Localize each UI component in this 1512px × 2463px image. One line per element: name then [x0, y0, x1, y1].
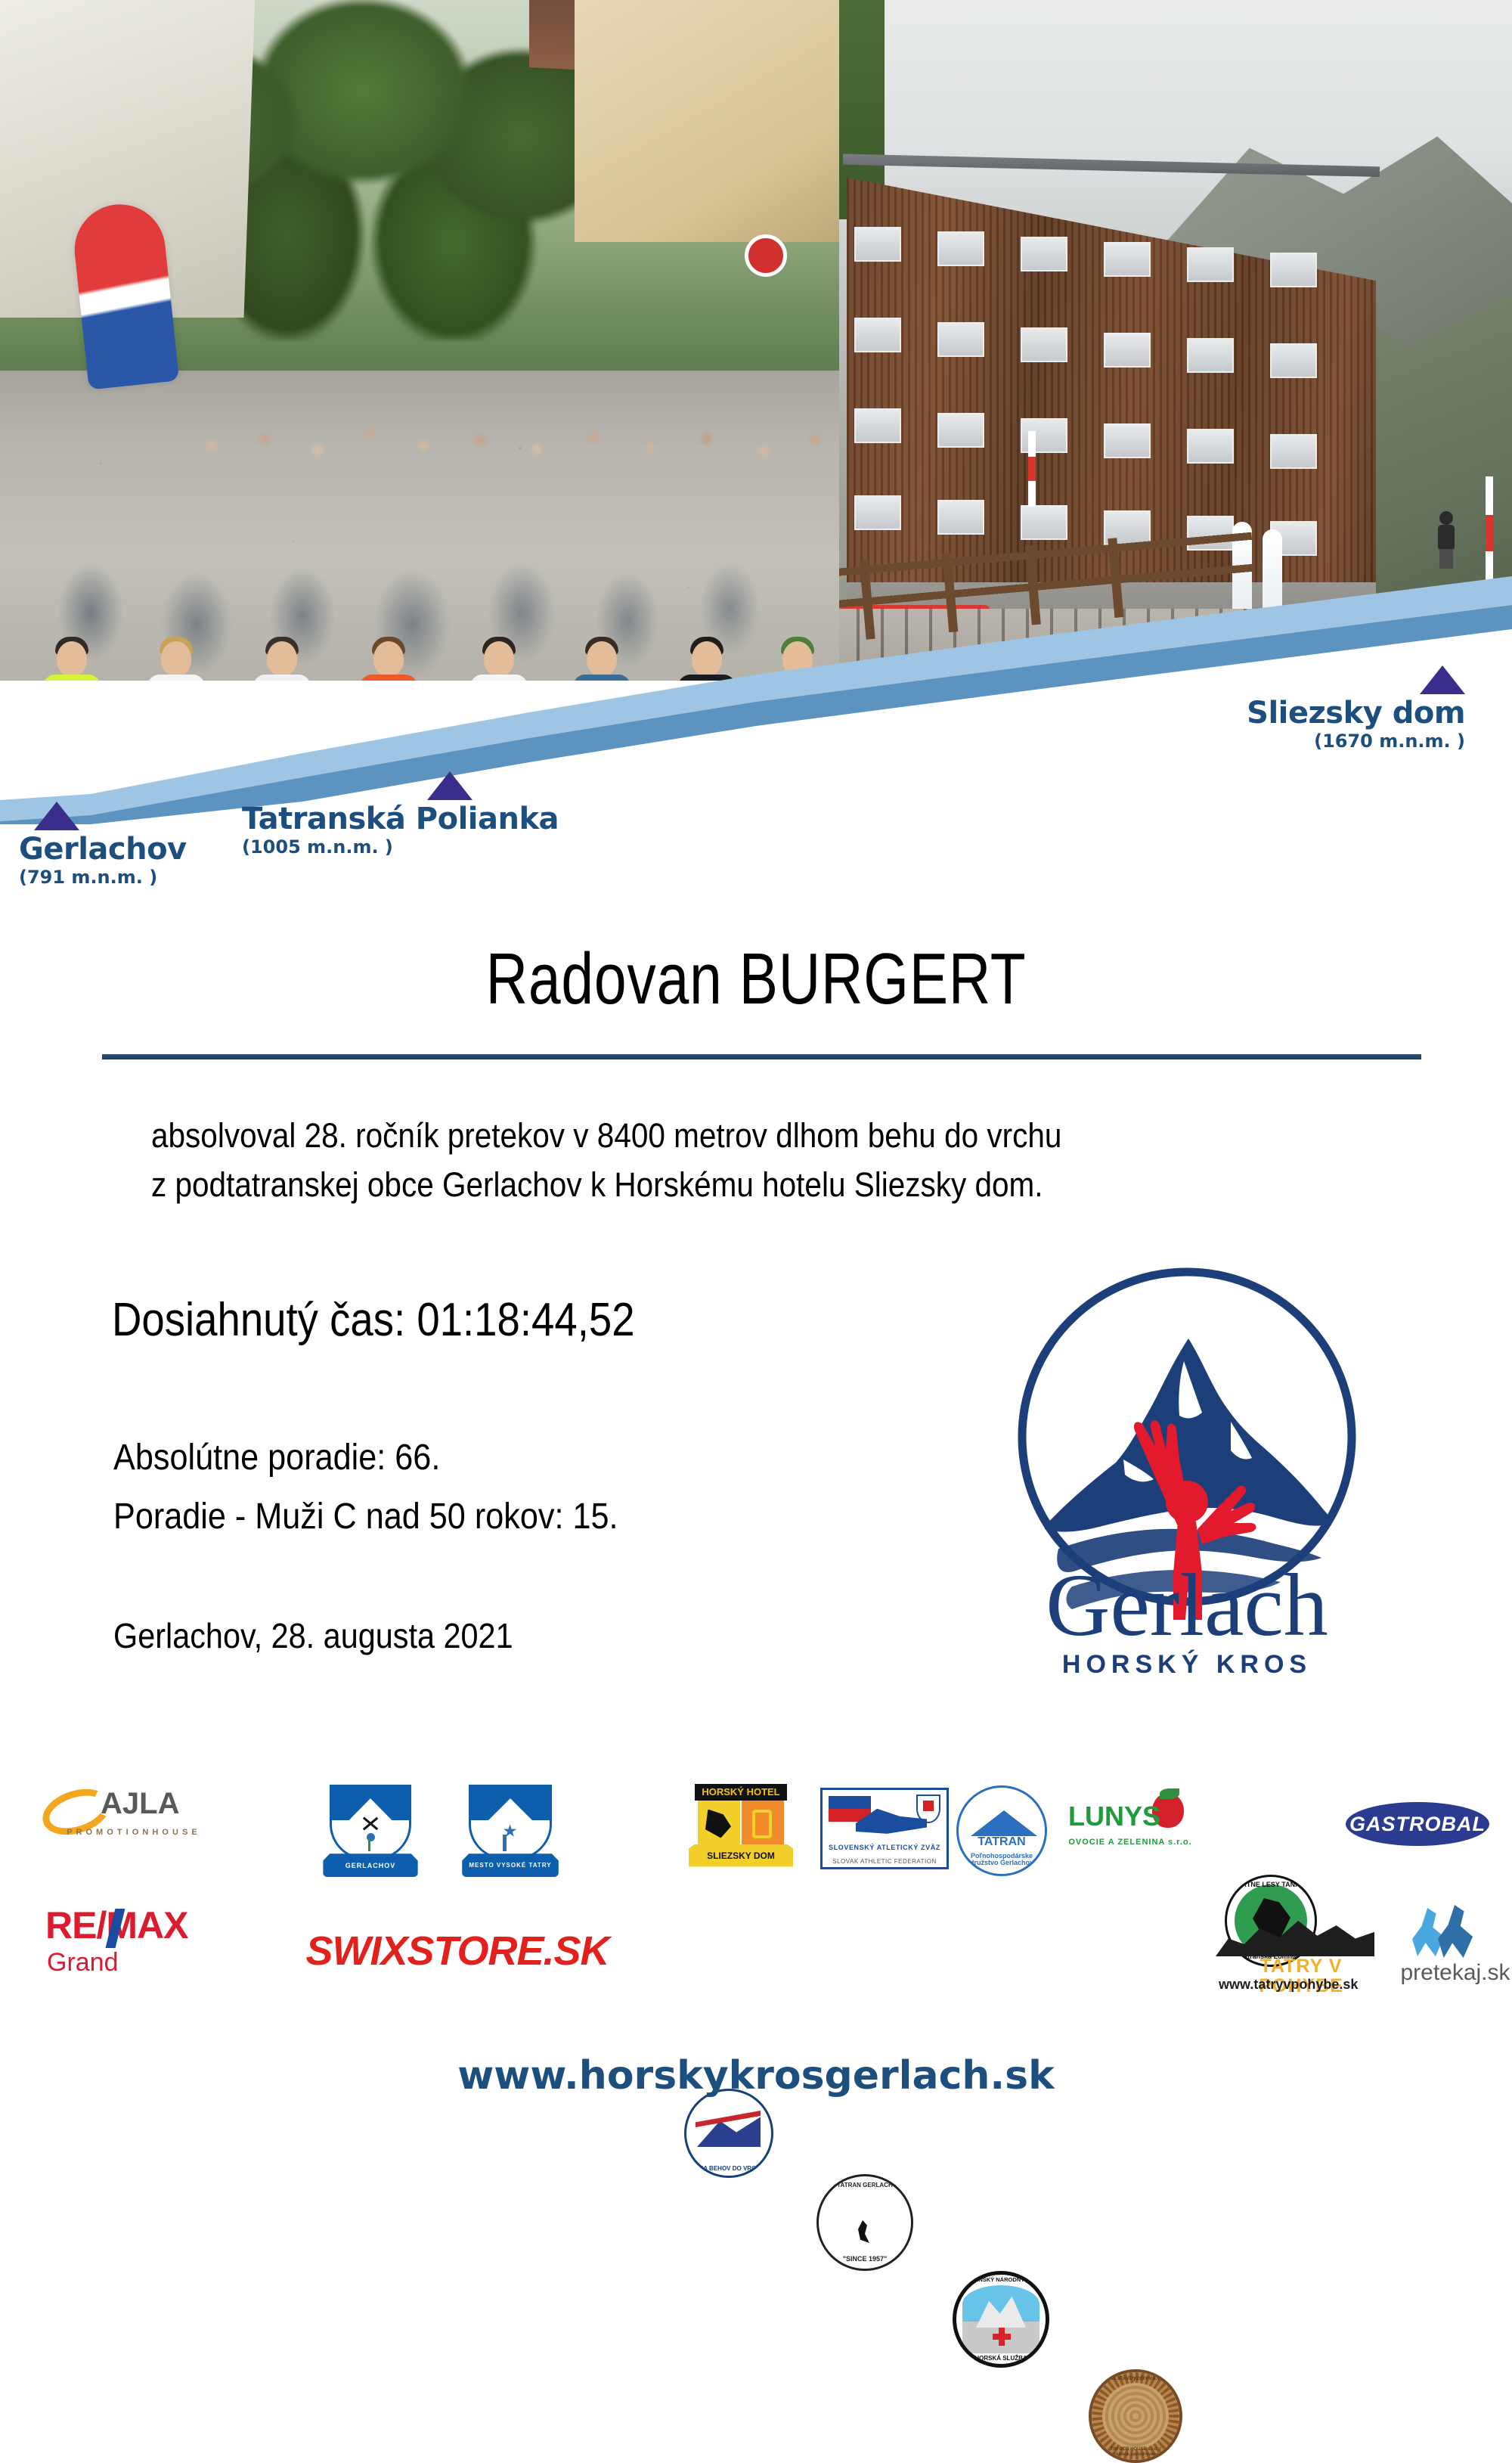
spectator-crowd: [181, 355, 839, 492]
sponsor-tagline: SLOVAK ATHLETIC FEDERATION: [823, 1859, 947, 1865]
station-name: Gerlachov: [19, 833, 187, 865]
sponsor-name: ŠTÁTNE LESY TANAPu: [1227, 1880, 1315, 1890]
rank-overall: Absolútne poradie: 66.: [113, 1437, 440, 1478]
sponsor-tatry-v-pohybe: TATRY V POHYBE www.tatryvpohybe.sk: [1210, 1909, 1383, 1996]
runner: [1436, 511, 1456, 567]
sponsor-name: GASTROBAL: [1349, 1813, 1486, 1835]
logo-subtitle: HORSKÝ KROS: [1062, 1650, 1312, 1679]
trail-marker: [1486, 476, 1493, 590]
runner-icon: [1438, 1905, 1474, 1958]
sponsor-name: TATRANSKÝ NÁRODNÝ PARK: [956, 2275, 1046, 2285]
sponsor-name: HORSKÝ HOTEL: [695, 1784, 787, 1801]
station-name: Tatranská Polianka: [242, 803, 559, 835]
place-and-date: Gerlachov, 28. augusta 2021: [113, 1615, 513, 1656]
building-right: [575, 0, 839, 242]
sponsor-slovensky-atleticky-zvaz: SLOVENSKÝ ATLETICKÝ ZVÄZ SLOVAK ATHLETIC…: [816, 1785, 953, 1872]
station-tatranska-polianka: Tatranská Polianka (1005 m.n.m. ): [427, 771, 559, 858]
sponsor-tagline: OVOCIE A ZELENINA s.r.o.: [1066, 1838, 1194, 1847]
logo-wordmark: Gerlach: [1046, 1556, 1328, 1655]
rank-category: Poradie - Muži C nad 50 rokov: 15.: [113, 1496, 618, 1537]
sponsor-tagline: P R O M O T I O N H O U S E: [49, 1829, 215, 1838]
station-altitude: (1005 m.n.m. ): [242, 836, 559, 858]
sponsor-pretekaj-sk: pretekaj.sk: [1399, 1908, 1512, 1999]
title-divider: [102, 1054, 1421, 1059]
description-text: absolvoval 28. ročník pretekov v 8400 me…: [151, 1112, 1267, 1210]
window-row: [854, 408, 1353, 448]
station-marker-triangle-icon: [34, 802, 79, 830]
station-name: Sliezsky dom: [1213, 697, 1465, 729]
page-title: Radovan BURGERT: [151, 938, 1361, 1021]
trail-marker: [1028, 431, 1036, 507]
sponsor-ajla: AJLA P R O M O T I O N H O U S E: [42, 1785, 215, 1853]
sponsor-tagline: SLIEZSKY DOM: [689, 1844, 793, 1867]
runner-icon: [1412, 1908, 1445, 1956]
station-marker-triangle-icon: [1420, 665, 1465, 694]
apple-leaf-icon: [1160, 1788, 1179, 1799]
mountain-icon: [971, 1810, 1037, 1836]
sponsor-tagline: HORSKÁ SLUŽBA: [956, 2354, 1046, 2363]
sponsor-tj-tatran-gerlachov: TJ TATRAN GERLACHOV "SINCE 1957": [816, 2174, 913, 2271]
sponsor-name: pretekaj.sk: [1399, 1961, 1512, 1985]
window-row: [854, 227, 1353, 266]
sponsor-tagline: "SINCE 1957": [819, 2254, 911, 2264]
sponsor-logo-strip: AJLA P R O M O T I O N H O U S E GERLACH…: [0, 1781, 1512, 2046]
sponsor-horsky-hotel-sliezsky-dom: HORSKÝ HOTEL SLIEZSKY DOM: [680, 1781, 801, 1875]
sponsor-name: MESTO VYSOKÉ TATRY: [462, 1853, 559, 1877]
event-website-url[interactable]: www.horskykrosgerlach.sk: [0, 2053, 1512, 2099]
sponsor-gerlachov-coat-of-arms: GERLACHOV: [318, 1781, 423, 1879]
sponsor-name: www.stavbyzdreva.com: [1092, 2374, 1179, 2383]
sponsor-swixstore: SWIXSTORE.SK: [291, 1925, 624, 1978]
sponsor-unia-behov-do-vrchu: ÚNIA BEHOV DO VRCHU: [684, 2089, 773, 2178]
station-marker-triangle-icon: [427, 771, 472, 800]
stop-sign-icon: [745, 234, 787, 277]
sponsor-horska-sluzba-tanap: TATRANSKÝ NÁRODNÝ PARK HORSKÁ SLUŽBA: [953, 2271, 1049, 2368]
mountain-silhouette-icon: [1216, 1909, 1374, 1956]
result-time: Dosiahnutý čas: 01:18:44,52: [112, 1293, 635, 1347]
description-line-1: absolvoval 28. ročník pretekov v 8400 me…: [151, 1112, 1267, 1161]
station-gerlachov: Gerlachov (791 m.n.m. ): [34, 802, 187, 888]
chalice-icon: [752, 1810, 772, 1838]
sponsor-pd-tatran-gerlachov: TATRAN Poľnohospodárske družstvo Gerlach…: [956, 1785, 1047, 1876]
description-line-2: z podtatranskej obce Gerlachov k Horském…: [151, 1161, 1267, 1210]
sponsor-mesto-vysoke-tatry: MESTO VYSOKÉ TATRY: [454, 1781, 567, 1879]
sponsor-name: SLOVENSKÝ ATLETICKÝ ZVÄZ: [823, 1844, 947, 1851]
sponsor-name: TATRAN: [959, 1835, 1045, 1850]
window-row: [854, 495, 1353, 535]
sponsor-remax-grand: RE/MAX Grand: [45, 1906, 227, 1989]
sponsor-gastrobal: GASTROBAL: [1342, 1798, 1493, 1850]
sponsor-tagline: Grand: [47, 1950, 119, 1977]
sponsor-tagline: Poľnohospodárske družstvo Gerlachov: [959, 1851, 1045, 1869]
sponsor-name: LUNYS: [1066, 1802, 1163, 1831]
sponsor-tagline: www.tatryvpohybe.sk: [1219, 1978, 1358, 1992]
event-logo: Gerlach HORSKÝ KROS: [975, 1248, 1399, 1694]
window-row: [854, 318, 1353, 357]
station-altitude: (1670 m.n.m. ): [1213, 731, 1465, 752]
mountain-icon: [829, 2199, 903, 2237]
sponsor-lunys: LUNYS OVOCIE A ZELENINA s.r.o.: [1066, 1791, 1194, 1867]
sponsor-name: TJ TATRAN GERLACHOV: [819, 2181, 911, 2190]
sponsor-stavbyzdreva: www.stavbyzdreva.com TIM BCR HOUSE s.r.o…: [1089, 2369, 1182, 2463]
sponsor-name: ÚNIA BEHOV DO VRCHU: [686, 2164, 771, 2173]
station-altitude: (791 m.n.m. ): [19, 867, 187, 888]
sponsor-name: SWIXSTORE.SK: [305, 1930, 609, 1973]
sponsor-name: GERLACHOV: [323, 1853, 417, 1877]
sponsor-name: AJLA: [101, 1788, 179, 1819]
red-cross-icon: [993, 2328, 1011, 2346]
station-sliezsky-dom: Sliezsky dom (1670 m.n.m. ): [1420, 665, 1465, 752]
sponsor-tagline: TIM BCR HOUSE s.r.o. / www.facebook.com/…: [1092, 2446, 1179, 2458]
